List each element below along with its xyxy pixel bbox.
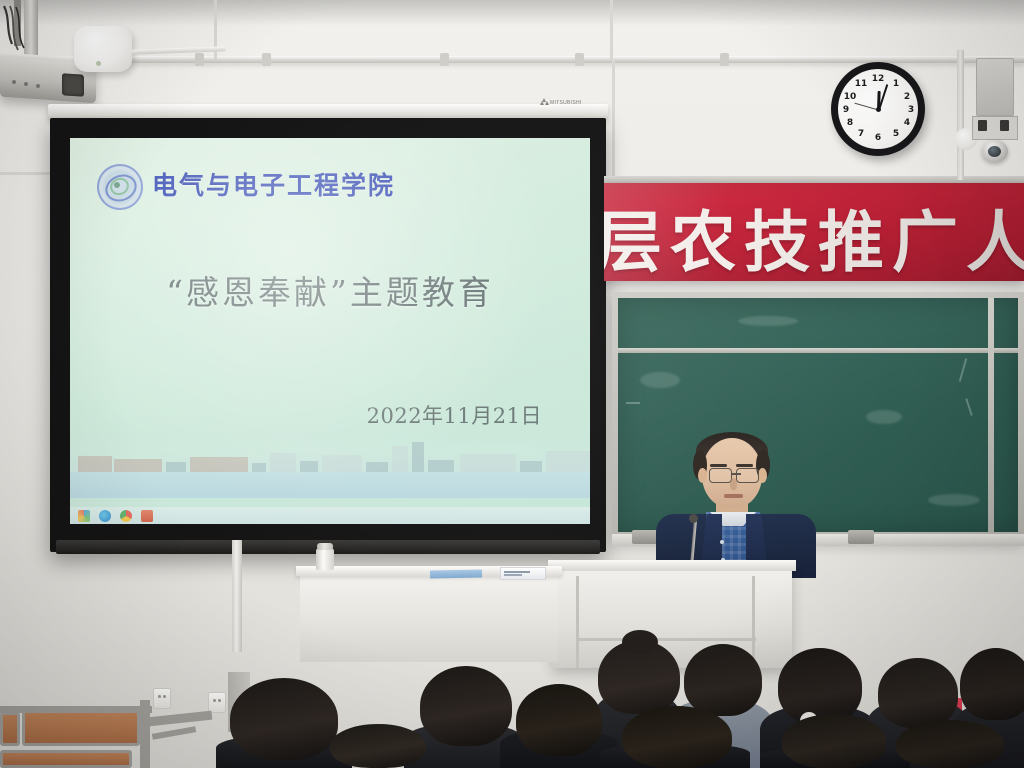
conduit-clip	[720, 53, 729, 66]
audience-head	[622, 706, 732, 768]
clock-numeral: 1	[889, 79, 903, 89]
clock-numeral: 8	[843, 118, 857, 128]
seat-backrest	[0, 750, 132, 768]
blue-paper	[430, 569, 482, 578]
audience-head	[330, 724, 426, 768]
presenter	[648, 428, 824, 578]
clock-numeral: 9	[839, 105, 853, 115]
chrome-icon[interactable]	[120, 510, 132, 522]
edge-icon[interactable]	[99, 510, 111, 522]
clock-numeral: 11	[854, 79, 868, 89]
projector-port	[24, 82, 28, 86]
wall-switch[interactable]	[1000, 120, 1009, 131]
projection-screen-frame: 电气与电子工程学院 “感恩奉献”主题教育 2022年11月21日	[50, 118, 606, 552]
screen-brand-text: MITSUBISHI	[550, 100, 582, 106]
presenter-ear	[758, 468, 767, 483]
blackboard-divider	[988, 298, 994, 532]
presenter-nose	[730, 478, 737, 490]
clock-numeral: 6	[871, 133, 885, 143]
wall-seam	[612, 60, 615, 180]
wall-equipment-box	[976, 58, 1014, 116]
conduit-clip	[195, 53, 204, 66]
audience-head	[230, 678, 338, 760]
power-outlet	[153, 688, 171, 709]
podium-top	[548, 560, 796, 571]
red-banner: 层农技推广人	[604, 183, 1024, 281]
dome-security-camera	[982, 140, 1008, 162]
projector-port	[36, 84, 40, 88]
wall-conduit-vertical	[232, 540, 242, 652]
access-point-led	[96, 61, 101, 66]
slide-panorama-image	[70, 436, 590, 498]
wall-switch[interactable]	[978, 120, 987, 131]
thermos-flask	[316, 548, 334, 570]
clock-numeral: 5	[889, 129, 903, 139]
banner-sheen	[604, 183, 1024, 281]
name-card	[500, 567, 546, 580]
emblem-core-dot	[114, 182, 120, 188]
projector-port	[12, 80, 16, 84]
thermos-cap	[317, 543, 333, 550]
audience-head	[896, 720, 1004, 768]
windows-start-icon[interactable]	[78, 510, 90, 522]
presenter-glasses-lens	[709, 468, 732, 483]
ceiling-shadow	[0, 0, 1024, 26]
clock-numeral: 10	[843, 92, 857, 102]
slide-date: 2022年11月21日	[367, 400, 542, 430]
seat-backrest	[22, 710, 140, 746]
audience-head	[684, 644, 762, 716]
wall-seam	[610, 0, 613, 60]
audience-head	[960, 648, 1024, 720]
chalk-holder	[848, 530, 874, 544]
front-desk	[300, 570, 558, 662]
powerpoint-icon[interactable]	[141, 510, 153, 522]
college-emblem-icon	[97, 164, 143, 210]
podium	[552, 564, 792, 668]
conduit-clip	[575, 53, 584, 66]
lecture-hall-photo: MITSUBISHI 电气与电子工程学院 “感恩奉献”主题教育 2022年11月…	[0, 0, 1024, 768]
audience-head	[420, 666, 512, 746]
clock-numeral: 2	[900, 92, 914, 102]
audience-hair-bun	[622, 630, 658, 654]
clock-numeral: 4	[900, 118, 914, 128]
presenter-ear	[698, 468, 707, 483]
seat-backrest	[0, 712, 20, 746]
conduit-clip	[262, 53, 271, 66]
screen-brand-label: MITSUBISHI	[540, 96, 618, 110]
wall-bracket-post	[957, 50, 964, 180]
clock-face: 12 1 2 3 4 5 6 7 8 9 10 11	[838, 69, 918, 149]
slide-organization: 电气与电子工程学院	[152, 166, 395, 202]
projected-slide: 电气与电子工程学院 “感恩奉献”主题教育 2022年11月21日	[70, 138, 590, 524]
audience-head	[878, 658, 958, 728]
mitsubishi-logo-icon	[540, 100, 547, 106]
presenter-mouth	[724, 494, 743, 498]
microphone-head	[689, 514, 698, 523]
conduit-clip	[440, 53, 449, 66]
projector-lens	[62, 73, 84, 97]
presenter-glasses-bridge	[731, 473, 741, 475]
wall-clock: 12 1 2 3 4 5 6 7 8 9 10 11	[831, 62, 925, 156]
wifi-access-point	[74, 26, 132, 72]
wall-seam	[0, 172, 50, 175]
blackboard-divider	[618, 348, 1018, 353]
clock-numeral: 7	[854, 129, 868, 139]
clock-numeral: 3	[904, 105, 918, 115]
audience-head	[516, 684, 602, 756]
windows-taskbar[interactable]	[70, 507, 590, 524]
presenter-glasses-lens	[736, 468, 759, 483]
audience-head	[782, 714, 886, 768]
slide-panorama-water	[70, 472, 590, 498]
slide-title: “感恩奉献”主题教育	[70, 266, 590, 314]
clock-numeral: 12	[871, 74, 885, 84]
audience-head	[778, 648, 862, 724]
clock-center-hub	[876, 107, 881, 112]
